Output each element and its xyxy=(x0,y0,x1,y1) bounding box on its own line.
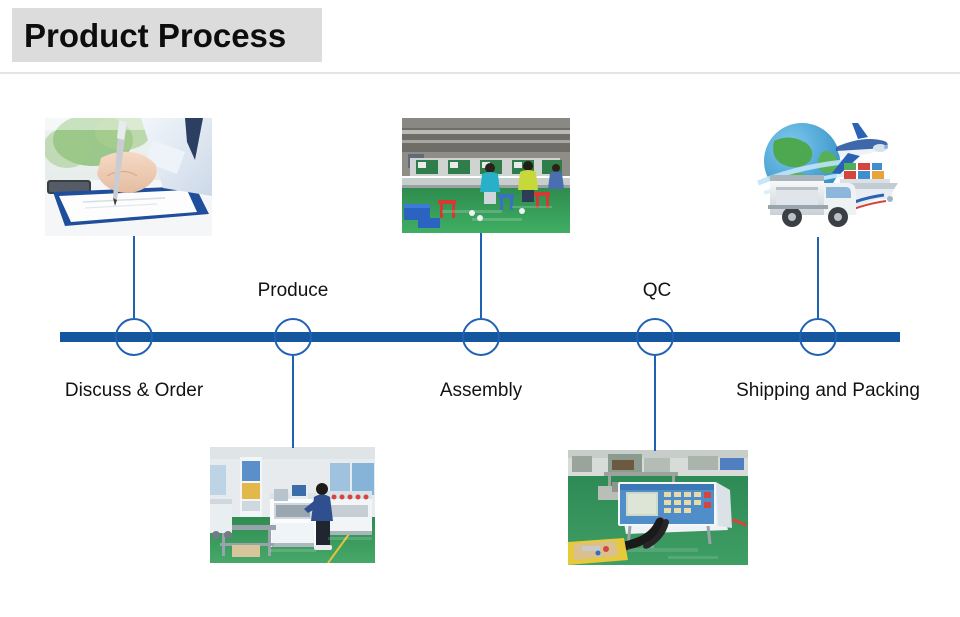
step-label-assembly: Assembly xyxy=(401,381,561,400)
connector-stem-shipping-packing xyxy=(817,237,819,318)
connector-stem-produce xyxy=(292,356,294,448)
connector-stem-qc xyxy=(654,356,656,451)
timeline-node-qc[interactable] xyxy=(636,318,674,356)
step-label-discuss-order: Discuss & Order xyxy=(34,381,234,400)
timeline-node-assembly[interactable] xyxy=(462,318,500,356)
contract-signing-photo xyxy=(45,118,212,236)
connector-stem-assembly xyxy=(480,233,482,318)
step-label-produce: Produce xyxy=(213,281,373,300)
timeline-node-shipping-packing[interactable] xyxy=(799,318,837,356)
timeline-node-produce[interactable] xyxy=(274,318,312,356)
product-process-slide: Product Process xyxy=(0,0,960,617)
header-divider xyxy=(0,72,960,74)
production-workshop-photo xyxy=(210,447,375,563)
page-title-box: Product Process xyxy=(12,8,322,62)
step-label-shipping-packing: Shipping and Packing xyxy=(718,381,938,400)
connector-stem-discuss-order xyxy=(133,236,135,318)
page-title: Product Process xyxy=(12,19,286,52)
assembly-line-photo xyxy=(402,118,570,233)
qc-testing-photo xyxy=(568,450,748,565)
timeline-node-discuss-order[interactable] xyxy=(115,318,153,356)
global-logistics-photo xyxy=(740,117,900,237)
step-label-qc: QC xyxy=(577,281,737,300)
